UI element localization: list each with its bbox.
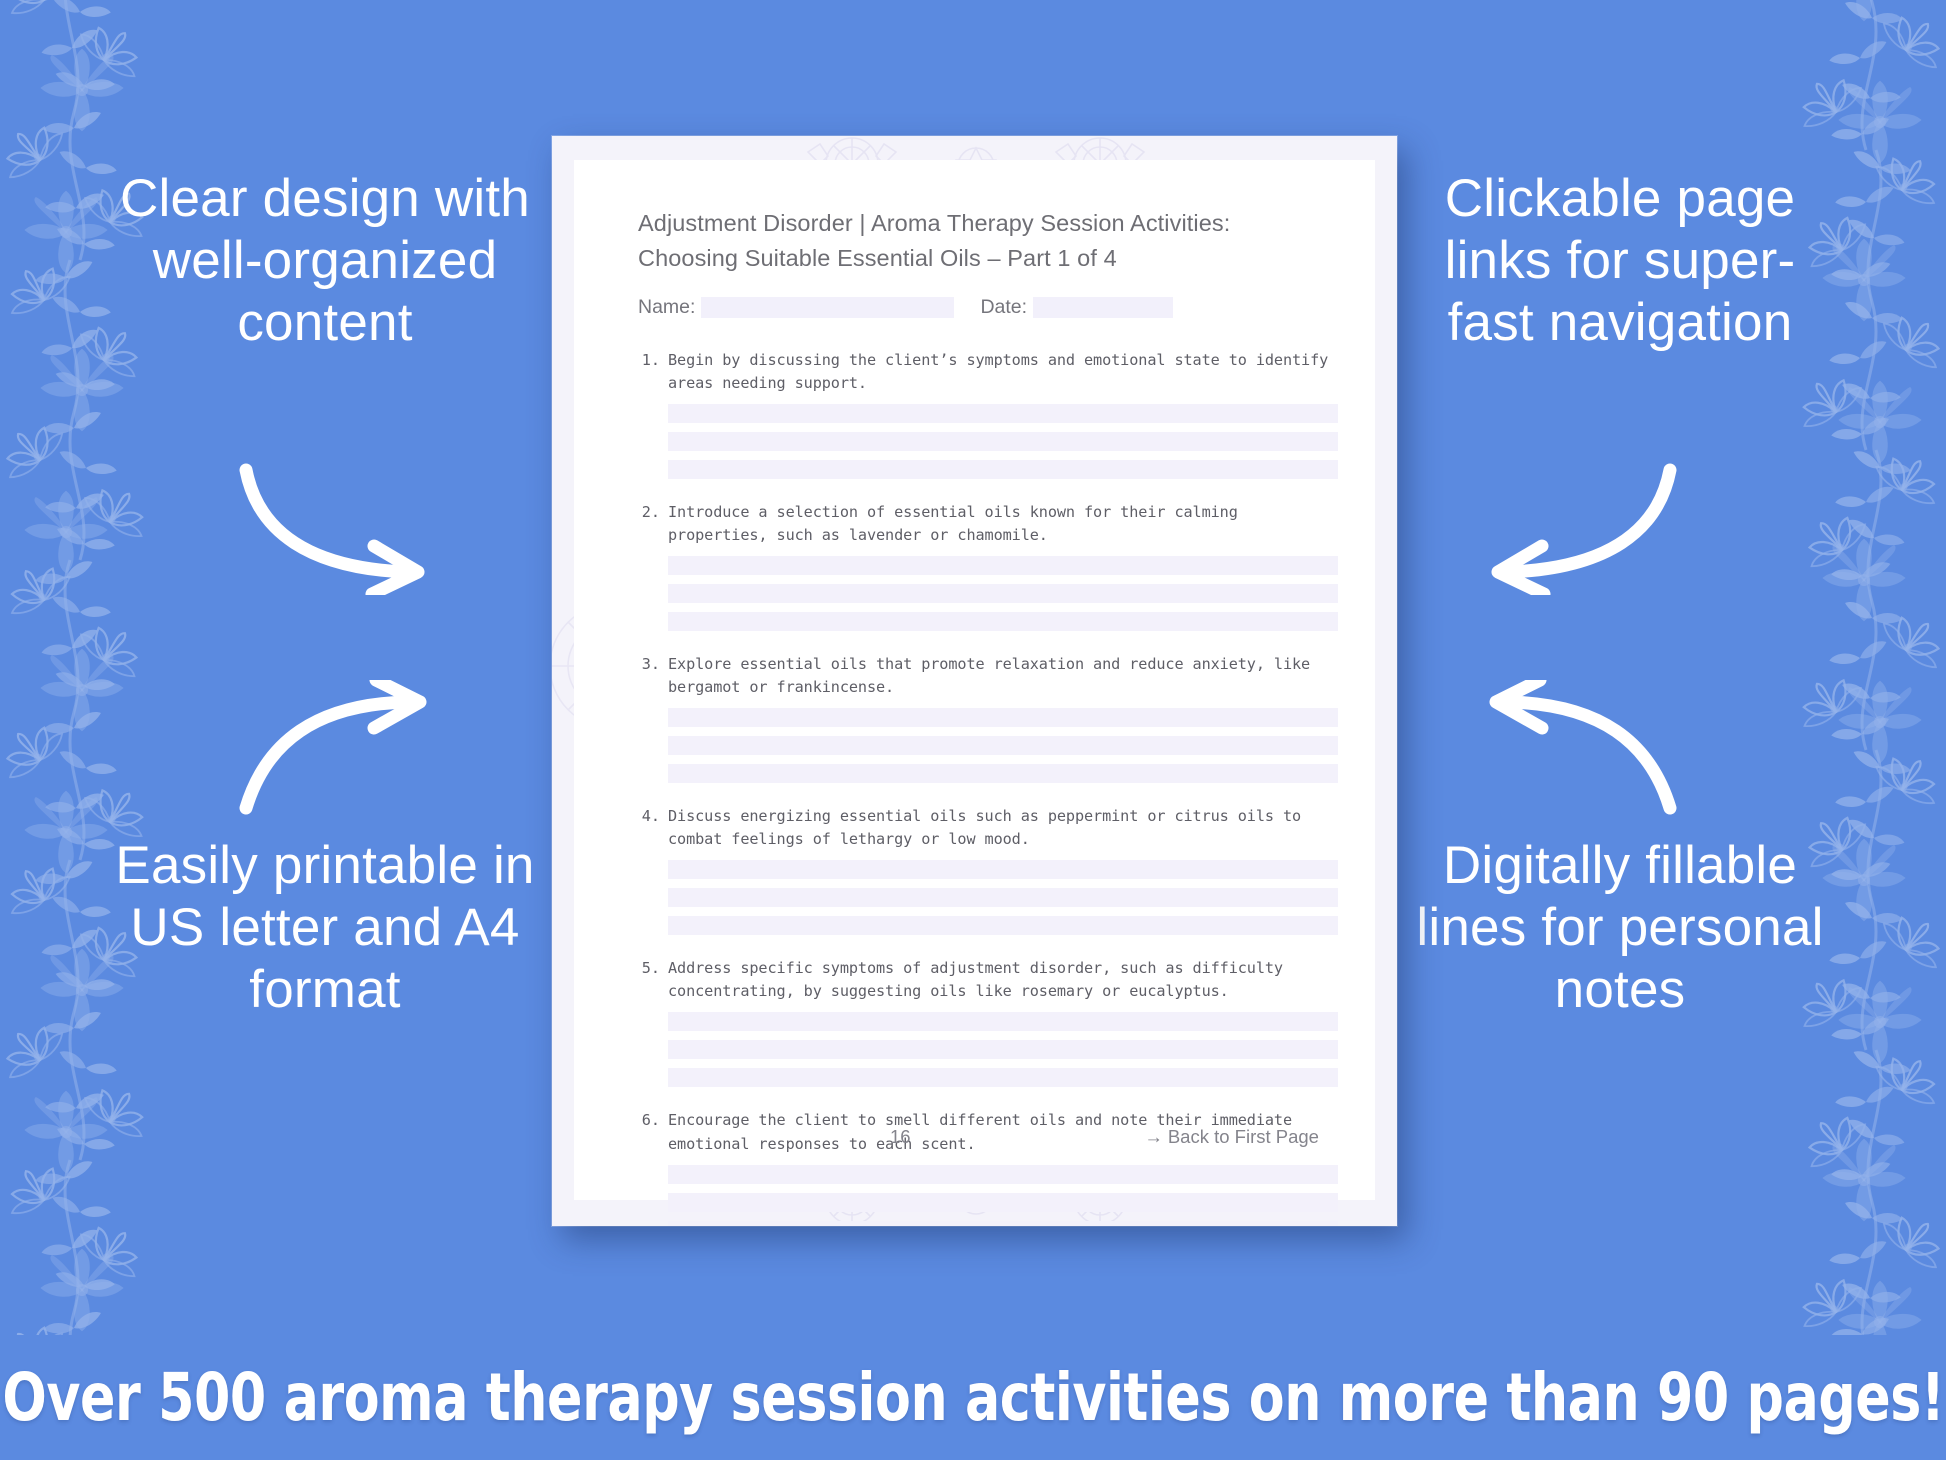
fillable-lines-group bbox=[668, 404, 1338, 479]
activity-body: Address specific symptoms of adjustment … bbox=[668, 957, 1338, 1096]
date-input[interactable] bbox=[1033, 297, 1173, 318]
fillable-line[interactable] bbox=[668, 1040, 1338, 1059]
fillable-line[interactable] bbox=[668, 404, 1338, 423]
document-footer: 16 →Back to First Page bbox=[638, 1126, 1319, 1148]
fillable-lines-group bbox=[668, 1165, 1338, 1226]
activity-text: Introduce a selection of essential oils … bbox=[668, 501, 1338, 547]
document-page: Adjustment Disorder | Aroma Therapy Sess… bbox=[574, 160, 1375, 1200]
activity-number: 3. bbox=[638, 653, 668, 792]
fillable-line[interactable] bbox=[668, 432, 1338, 451]
document-meta-row: Name: Date: bbox=[638, 296, 1338, 319]
curved-arrow-down-right-icon bbox=[236, 460, 446, 595]
name-input[interactable] bbox=[701, 297, 954, 318]
fillable-line[interactable] bbox=[668, 612, 1338, 631]
fillable-line[interactable] bbox=[668, 1068, 1338, 1087]
fillable-lines-group bbox=[668, 556, 1338, 631]
activity-number: 2. bbox=[638, 501, 668, 640]
document-title-line-1: Adjustment Disorder | Aroma Therapy Sess… bbox=[638, 206, 1338, 241]
fillable-line[interactable] bbox=[668, 1193, 1338, 1212]
activity-text: Discuss energizing essential oils such a… bbox=[668, 805, 1338, 851]
promo-text-top-left: Clear design with well-organized content bbox=[110, 168, 540, 354]
activity-item: 5.Address specific symptoms of adjustmen… bbox=[638, 957, 1338, 1096]
fillable-line[interactable] bbox=[668, 1165, 1338, 1184]
back-to-first-page-link[interactable]: →Back to First Page bbox=[1144, 1126, 1319, 1148]
activity-body: Begin by discussing the client’s symptom… bbox=[668, 349, 1338, 488]
activity-number: 5. bbox=[638, 957, 668, 1096]
fillable-lines-group bbox=[668, 1012, 1338, 1087]
date-label: Date: bbox=[980, 296, 1027, 319]
activity-item: 1.Begin by discussing the client’s sympt… bbox=[638, 349, 1338, 488]
promo-text-top-right: Clickable page links for super-fast navi… bbox=[1405, 168, 1835, 354]
back-to-first-page-label: Back to First Page bbox=[1168, 1126, 1319, 1147]
fillable-lines-group bbox=[668, 860, 1338, 935]
bottom-banner-text: Over 500 aroma therapy session activitie… bbox=[2, 1359, 1944, 1436]
activity-item: 3.Explore essential oils that promote re… bbox=[638, 653, 1338, 792]
activity-body: Introduce a selection of essential oils … bbox=[668, 501, 1338, 640]
fillable-line[interactable] bbox=[668, 860, 1338, 879]
promo-text-bottom-left: Easily printable in US letter and A4 for… bbox=[110, 835, 540, 1021]
curved-arrow-up-right-icon bbox=[236, 680, 446, 815]
promo-text-bottom-right: Digitally fillable lines for personal no… bbox=[1405, 835, 1835, 1021]
curved-arrow-up-left-icon bbox=[1470, 680, 1680, 815]
page-number: 16 bbox=[890, 1126, 911, 1148]
fillable-line[interactable] bbox=[668, 584, 1338, 603]
activity-number: 4. bbox=[638, 805, 668, 944]
activity-body: Explore essential oils that promote rela… bbox=[668, 653, 1338, 792]
activity-item: 4.Discuss energizing essential oils such… bbox=[638, 805, 1338, 944]
fillable-line[interactable] bbox=[668, 916, 1338, 935]
activity-number: 1. bbox=[638, 349, 668, 488]
fillable-lines-group bbox=[668, 708, 1338, 783]
fillable-line[interactable] bbox=[668, 460, 1338, 479]
promo-stage: Clear design with well-organized content… bbox=[0, 0, 1946, 1335]
fillable-line[interactable] bbox=[668, 556, 1338, 575]
arrow-right-icon: → bbox=[1144, 1126, 1163, 1147]
fillable-line[interactable] bbox=[668, 736, 1338, 755]
fillable-line[interactable] bbox=[668, 1012, 1338, 1031]
name-label: Name: bbox=[638, 296, 695, 319]
fillable-line[interactable] bbox=[668, 764, 1338, 783]
document-preview[interactable]: Adjustment Disorder | Aroma Therapy Sess… bbox=[552, 136, 1397, 1226]
curved-arrow-down-left-icon bbox=[1470, 460, 1680, 595]
bottom-banner: Over 500 aroma therapy session activitie… bbox=[0, 1335, 1946, 1460]
document-title-line-2: Choosing Suitable Essential Oils – Part … bbox=[638, 241, 1338, 276]
document-content: Adjustment Disorder | Aroma Therapy Sess… bbox=[638, 206, 1338, 1226]
activity-item: 2.Introduce a selection of essential oil… bbox=[638, 501, 1338, 640]
activity-text: Address specific symptoms of adjustment … bbox=[668, 957, 1338, 1003]
fillable-line[interactable] bbox=[668, 1221, 1338, 1226]
activity-list: 1.Begin by discussing the client’s sympt… bbox=[638, 349, 1338, 1226]
activity-body: Discuss energizing essential oils such a… bbox=[668, 805, 1338, 944]
activity-text: Explore essential oils that promote rela… bbox=[668, 653, 1338, 699]
fillable-line[interactable] bbox=[668, 708, 1338, 727]
activity-text: Begin by discussing the client’s symptom… bbox=[668, 349, 1338, 395]
fillable-line[interactable] bbox=[668, 888, 1338, 907]
